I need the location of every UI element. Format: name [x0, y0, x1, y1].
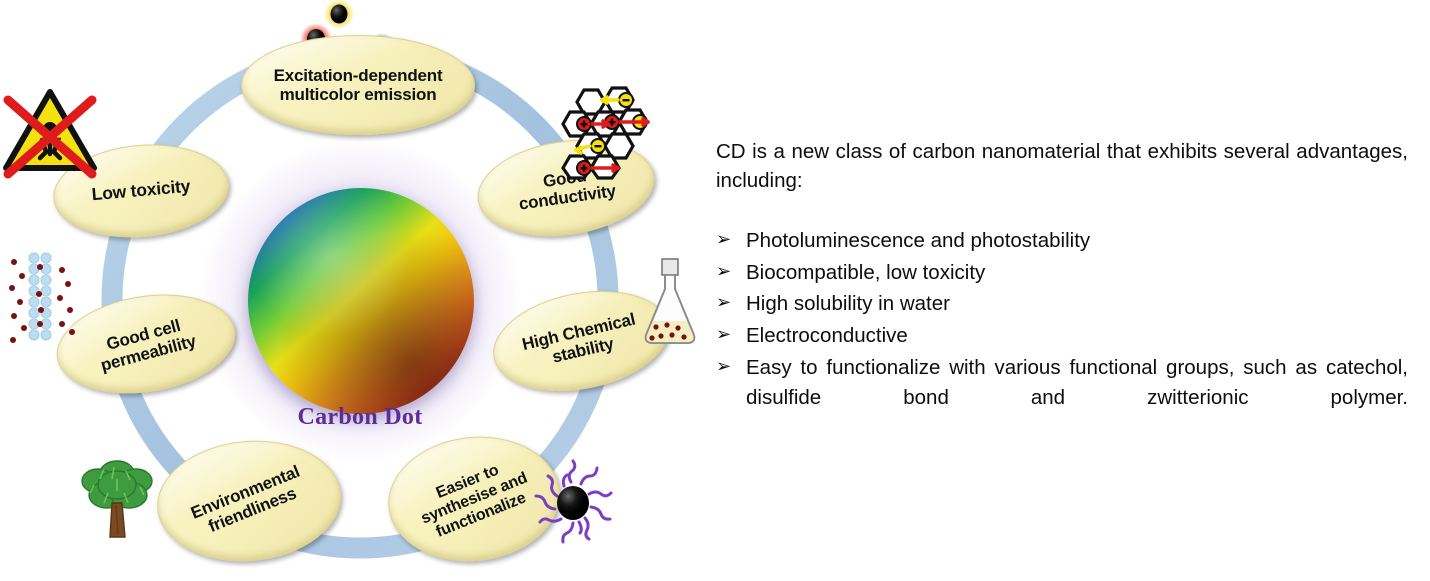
bullet-arrow-icon: ➢ — [716, 289, 746, 316]
tree-icon — [74, 445, 160, 545]
node-label: High Chemical stability — [520, 309, 641, 372]
list-item-label: Biocompatible, low toxicity — [746, 258, 1408, 288]
bullet-arrow-icon: ➢ — [716, 321, 746, 348]
advantages-text-panel: CD is a new class of carbon nanomaterial… — [716, 116, 1408, 444]
erlenmeyer-flask-icon — [634, 255, 706, 347]
carbon-dot-label: Carbon Dot — [205, 404, 515, 431]
functionalized-nanoparticle-icon — [519, 452, 623, 558]
node-label: Environmental friendliness — [188, 462, 309, 541]
node-label: Easier to synthesise and functionalize — [412, 453, 537, 545]
list-item: ➢ Easy to functionalize with various fun… — [716, 353, 1408, 442]
node-label: Excitation-dependent multicolor emission — [274, 66, 443, 104]
node-label: Good cell permeability — [94, 313, 198, 375]
graphene-charge-carrier-icon — [556, 84, 660, 180]
figure-root: Carbon Dot Excitation-dependent multicol… — [0, 0, 1430, 581]
carbon-dot-wheel-diagram: Carbon Dot Excitation-dependent multicol… — [0, 0, 700, 581]
list-item-label: Photoluminescence and photostability — [746, 226, 1408, 256]
list-item: ➢ Photoluminescence and photostability — [716, 226, 1408, 256]
bullet-arrow-icon: ➢ — [716, 226, 746, 253]
node-excitation-dependent-multicolor-emission[interactable]: Excitation-dependent multicolor emission — [241, 35, 475, 135]
list-item: ➢ High solubility in water — [716, 289, 1408, 319]
advantages-list: ➢ Photoluminescence and photostability ➢… — [716, 226, 1408, 442]
crossed-out-toxic-warning-icon — [2, 82, 98, 182]
carbon-dot-sphere — [248, 188, 474, 414]
node-label: Low toxicity — [91, 177, 191, 205]
lipid-bilayer-permeation-icon — [6, 248, 84, 352]
intro-paragraph: CD is a new class of carbon nanomaterial… — [716, 137, 1408, 196]
bullet-arrow-icon: ➢ — [716, 353, 746, 380]
list-item-label: Easy to functionalize with various funct… — [746, 353, 1408, 442]
list-item-label: Electroconductive — [746, 321, 1408, 351]
list-item-label: High solubility in water — [746, 289, 1408, 319]
list-item: ➢ Electroconductive — [716, 321, 1408, 351]
bullet-arrow-icon: ➢ — [716, 258, 746, 285]
emission-dot-yellow-top — [324, 0, 354, 29]
list-item: ➢ Biocompatible, low toxicity — [716, 258, 1408, 288]
